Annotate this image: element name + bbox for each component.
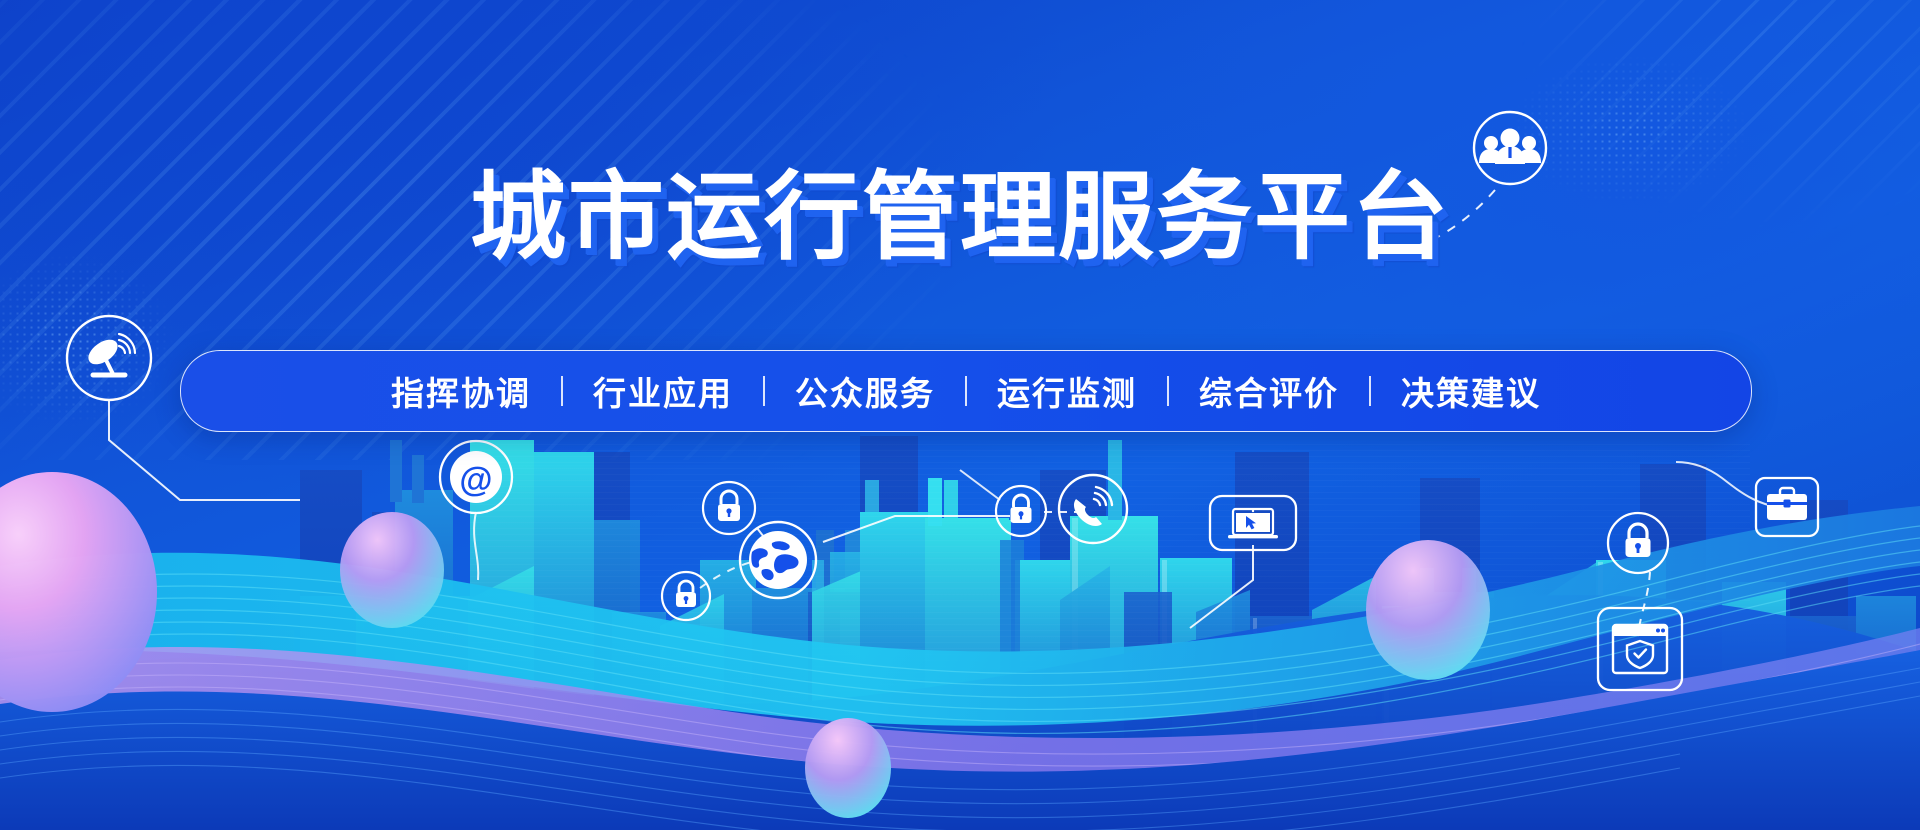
primary-navigation[interactable]: 指挥协调行业应用公众服务运行监测综合评价决策建议 [180,350,1752,432]
lock-icon-secondary[interactable] [662,572,710,620]
phone-ring-icon[interactable] [1059,475,1127,543]
globe-icon[interactable] [740,522,816,598]
lock-icon-right[interactable] [1608,513,1668,573]
briefcase-icon[interactable] [1756,478,1818,536]
nav-item-3[interactable]: 公众服务 [765,367,965,415]
laptop-cursor-icon[interactable] [1210,496,1296,550]
connector-line-people [1390,190,1495,252]
nav-item-4[interactable]: 运行监测 [967,367,1167,415]
city-platform-banner: @ [0,0,1920,830]
svg-text:@: @ [459,461,492,499]
people-group-icon[interactable] [1474,112,1546,184]
connector-line-into-lock-phone [960,470,1000,500]
nav-item-5[interactable]: 综合评价 [1169,367,1369,415]
connector-line-globe-right [823,516,1010,542]
nav-item-2[interactable]: 行业应用 [563,367,763,415]
satellite-dish-icon[interactable] [67,316,151,400]
nav-item-6[interactable]: 决策建议 [1371,367,1571,415]
nav-item-1[interactable]: 指挥协调 [361,367,561,415]
at-sign-icon[interactable]: @ [440,441,512,513]
lock-icon[interactable] [703,482,755,534]
connector-line-laptop [1190,545,1253,628]
connector-line-at [474,512,478,580]
lock-icon-phone-area[interactable] [996,486,1046,536]
